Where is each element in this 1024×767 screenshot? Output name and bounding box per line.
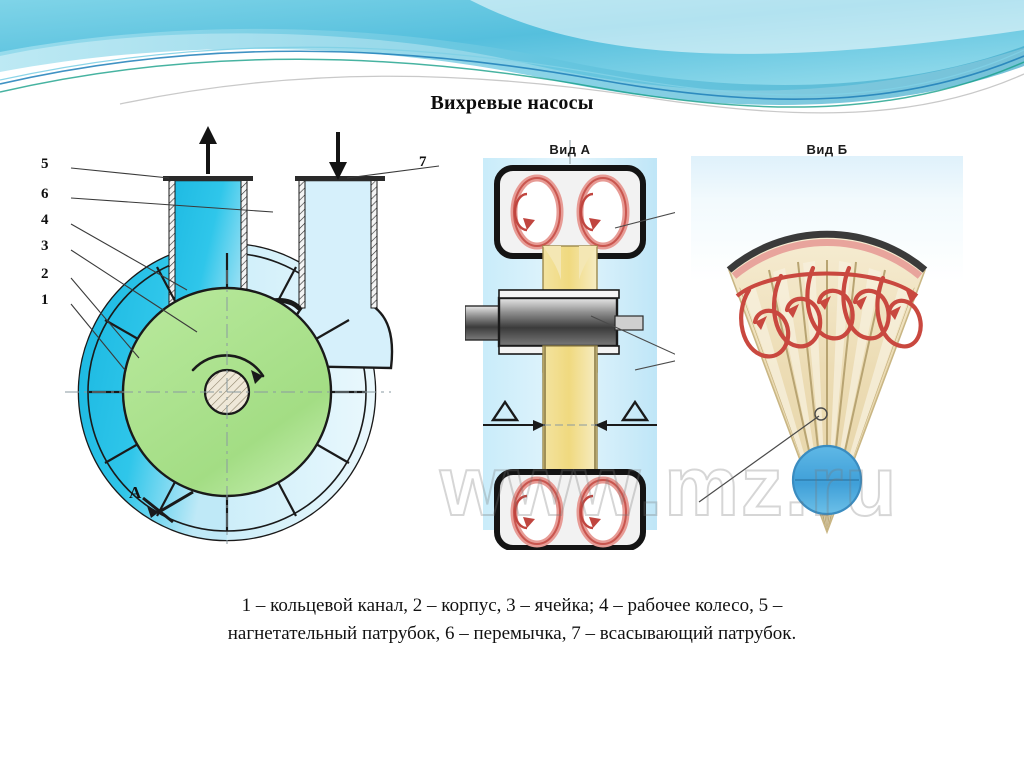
callout-3: 3 bbox=[41, 238, 49, 255]
panel-view-a: Вид А bbox=[465, 120, 675, 550]
callout-4: 4 bbox=[41, 212, 49, 229]
caption-line-1: 1 – кольцевой канал, 2 – корпус, 3 – яче… bbox=[112, 592, 912, 620]
panel-view-b: Вид Б bbox=[677, 120, 977, 550]
panel-title-view-b: Вид Б bbox=[677, 142, 977, 157]
callout-2: 2 bbox=[41, 266, 49, 283]
page-title: Вихревые насосы bbox=[0, 92, 1024, 115]
callout-6: 6 bbox=[41, 186, 49, 203]
panel-title-view-a: Вид А bbox=[465, 142, 675, 157]
callout-7: 7 bbox=[419, 154, 427, 171]
figure-caption: 1 – кольцевой канал, 2 – корпус, 3 – яче… bbox=[112, 592, 912, 647]
panel-pump-cross-section: А 5 6 4 3 2 1 7 bbox=[47, 120, 462, 550]
slide-canvas: Вихревые насосы bbox=[0, 0, 1024, 767]
caption-line-2: нагнетательный патрубок, 6 – перемычка, … bbox=[112, 620, 912, 648]
callout-5: 5 bbox=[41, 156, 49, 173]
figure-group: А 5 6 4 3 2 1 7 bbox=[47, 120, 977, 550]
callout-1: 1 bbox=[41, 292, 49, 309]
svg-text:А: А bbox=[129, 483, 142, 502]
